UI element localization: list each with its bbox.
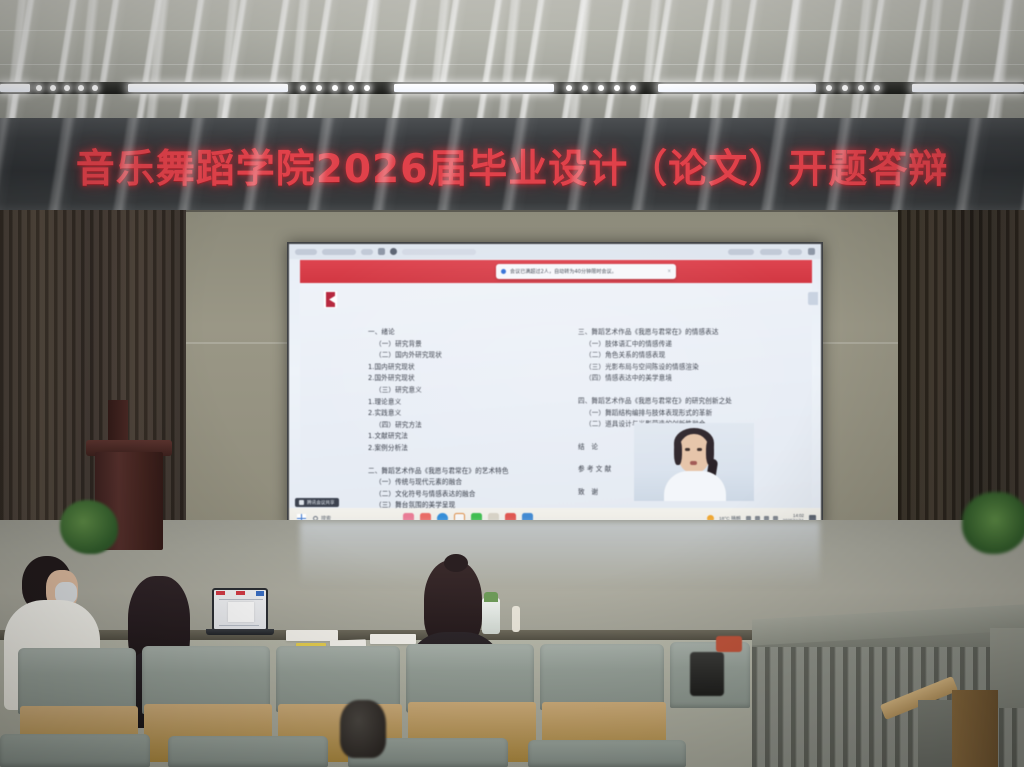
shared-window-label: 腾讯会议共享 [307, 500, 335, 506]
screen-floor-reflection [300, 522, 820, 588]
presentation-slide[interactable]: 一、绪论 （一）研究背景 （二）国内外研究现状 1.国内研究现状 2.国外研究现… [300, 283, 812, 508]
browser-chrome[interactable] [289, 244, 821, 259]
outline-spacer [368, 455, 564, 466]
ceiling-led-segment [128, 84, 288, 92]
ceiling-led-dot [874, 85, 880, 91]
ceiling-led-dot [566, 85, 572, 91]
ceiling-led-dot [348, 85, 354, 91]
ceiling-led-dot [826, 85, 832, 91]
outline-item: 1.国内研究现状 [368, 362, 564, 374]
water-bottle-cap [484, 592, 498, 602]
outline-item: （一）研究背景 [368, 339, 564, 351]
wall-wood-panel-right [898, 210, 1024, 540]
outline-item: 2.案例分析法 [368, 443, 564, 455]
browser-tab[interactable] [322, 249, 356, 255]
user-avatar-icon[interactable] [390, 248, 397, 255]
laptop-document-page [228, 602, 254, 622]
outline-item: （一）舞蹈结构编排与肢体表现形式的革新 [578, 408, 798, 420]
ceiling-led-dot [78, 85, 84, 91]
ceiling-led-dot [36, 85, 42, 91]
presenter-hair-side-left [674, 439, 682, 465]
close-icon[interactable]: × [667, 269, 671, 275]
presenter-shirt [664, 471, 726, 501]
outline-column-left: 一、绪论 （一）研究背景 （二）国内外研究现状 1.国内研究现状 2.国外研究现… [368, 327, 564, 512]
potted-plant-right [962, 492, 1024, 554]
ceiling-led-dot [64, 85, 70, 91]
laptop-screen-header-left [216, 591, 225, 595]
ceiling-led-dot [364, 85, 370, 91]
banner-title: 音乐舞蹈学院2026届毕业设计（论文）开题答辩 [76, 138, 949, 194]
red-object [716, 636, 742, 652]
laptop-screen[interactable] [212, 588, 268, 631]
laptop-keyboard-base [206, 629, 274, 635]
ceiling-led-dot [300, 85, 306, 91]
meeting-notification-toast[interactable]: 会议已满超过2人，自动转为40分钟限时会议。 × [496, 264, 676, 279]
laptop-text-line [219, 625, 259, 626]
outline-item: （一）传统与现代元素的融合 [368, 477, 564, 489]
pen [512, 606, 520, 632]
ceiling-led-dot [630, 85, 636, 91]
ceiling-seam [0, 30, 1024, 31]
event-banner: 音乐舞蹈学院2026届毕业设计（论文）开题答辩 [0, 118, 1024, 214]
outline-item: （二）角色关系的情感表现 [578, 350, 798, 362]
floor-bag [340, 700, 386, 758]
ceiling [0, 0, 1024, 122]
scene-root: 音乐舞蹈学院2026届毕业设计（论文）开题答辩 [0, 0, 1024, 767]
ceiling-led-dot [598, 85, 604, 91]
audience-chair[interactable] [276, 646, 400, 712]
water-bottle [482, 598, 500, 634]
presenter-eye-left [685, 448, 690, 451]
ceiling-led-dot [614, 85, 620, 91]
browser-new-tab-button[interactable] [361, 249, 373, 255]
outline-item: （四）研究方法 [368, 420, 564, 432]
outline-item: （三）研究意义 [368, 385, 564, 397]
toolbar-button[interactable] [728, 249, 754, 255]
outline-item: 1.理论意义 [368, 397, 564, 409]
browser-toolbar-right[interactable] [728, 248, 815, 255]
potted-plant-left [60, 500, 118, 554]
ceiling-led-dot [332, 85, 338, 91]
back-icon[interactable] [378, 248, 385, 255]
meeting-notification-strip: 会议已满超过2人，自动转为40分钟限时会议。 × [300, 260, 812, 283]
person-hair-bun [444, 554, 468, 572]
floor-bag-right [690, 652, 724, 696]
ceiling-led-dot [842, 85, 848, 91]
address-bar[interactable] [402, 249, 476, 255]
ceiling-led-dot [582, 85, 588, 91]
outline-item: （二）国内外研究现状 [368, 350, 564, 362]
presenter-video-tile[interactable] [634, 423, 754, 501]
outline-item: 一、绪论 [368, 327, 564, 339]
outline-item: （二）文化符号与情感表达的融合 [368, 489, 564, 501]
audience-chair[interactable] [540, 644, 664, 710]
laptop-screen-header-right [236, 591, 245, 595]
outline-item: 2.国外研究现状 [368, 373, 564, 385]
outline-section-title: 三、舞蹈艺术作品《我愿与君常在》的情感表达 [578, 327, 798, 339]
ceiling-led-segment [912, 84, 1024, 92]
presenter-mouth [690, 461, 697, 465]
chair-frame-right [952, 690, 998, 767]
audience-chair-front[interactable] [528, 740, 686, 767]
outline-item: 1.文献研究法 [368, 431, 564, 443]
ceiling-led-segment [0, 84, 30, 92]
audience-chair-front[interactable] [0, 734, 150, 767]
ceiling-led-segment [658, 84, 816, 92]
podium-mic-stand [108, 400, 128, 444]
outline-item: （三）光影布局与空间陈设的情感渲染 [578, 362, 798, 374]
ceiling-led-dot [316, 85, 322, 91]
outline-spacer [578, 385, 798, 396]
ceiling-seam [0, 64, 1024, 65]
ceiling-led-dot [858, 85, 864, 91]
outline-item: 2.实践意义 [368, 408, 564, 420]
audience-chair[interactable] [18, 648, 136, 714]
window-controls-icon[interactable] [808, 248, 815, 255]
outline-section-title: 四、舞蹈艺术作品《我愿与君常在》的研究创新之处 [578, 396, 798, 408]
ceiling-led-dot [50, 85, 56, 91]
ceiling-light-reflection-stripes-secondary [0, 0, 1024, 122]
presenter-eye-right [697, 448, 702, 451]
laptop-text-line [219, 599, 263, 600]
toolbar-button[interactable] [788, 249, 802, 255]
ceiling-led-segment [394, 84, 554, 92]
meeting-side-panel-button[interactable] [808, 292, 818, 305]
shared-window-pill[interactable]: 腾讯会议共享 [295, 498, 339, 507]
toolbar-button[interactable] [760, 249, 782, 255]
window-icon [299, 500, 304, 505]
ceiling-led-dot [92, 85, 98, 91]
desk-paper [370, 634, 416, 644]
info-dot-icon [501, 269, 506, 274]
projection-screen[interactable]: 会议已满超过2人，自动转为40分钟限时会议。 × 一、绪论 （一）研究背景 （二… [289, 244, 821, 528]
desk-paper [286, 630, 338, 641]
audience-chair-front[interactable] [168, 736, 328, 767]
laptop-screen-header-badge [256, 591, 264, 596]
outline-item: （四）情感表达中的美学意境 [578, 373, 798, 385]
outline-item: （一）肢体语汇中的情感传递 [578, 339, 798, 351]
outline-section-title: 二、舞蹈艺术作品《我愿与君常在》的艺术特色 [368, 466, 564, 478]
notification-text: 会议已满超过2人，自动转为40分钟限时会议。 [510, 268, 617, 275]
browser-tab[interactable] [295, 249, 317, 255]
projection-screen-frame: 会议已满超过2人，自动转为40分钟限时会议。 × 一、绪论 （一）研究背景 （二… [287, 242, 823, 530]
